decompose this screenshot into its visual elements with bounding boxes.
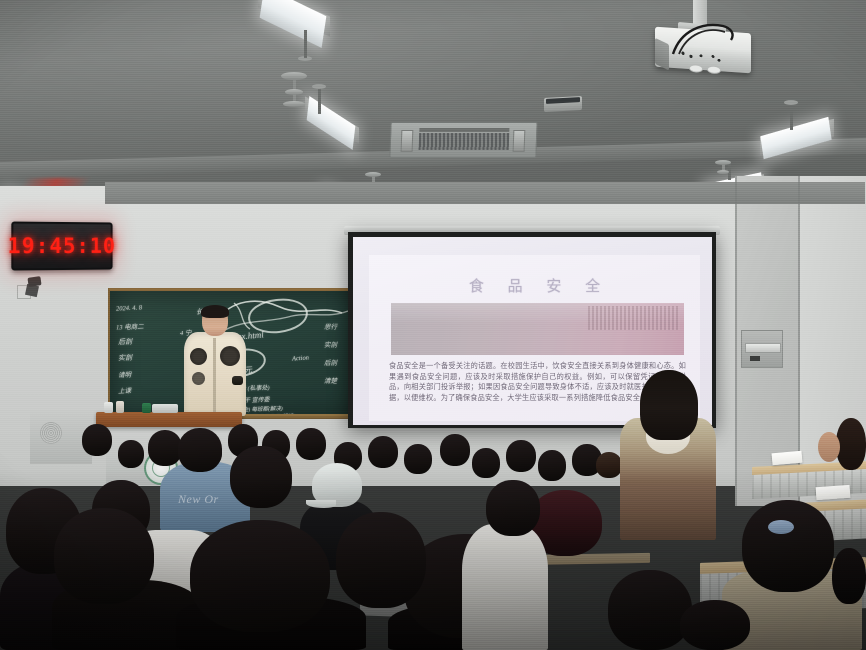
ceiling-ac-unit: [389, 122, 537, 158]
projector-lens: [655, 38, 669, 71]
chalk-line: 实剖: [118, 353, 132, 363]
jacket-patch-lower: [192, 372, 205, 385]
lectern-bottle-green: [142, 403, 151, 413]
standing-student: [620, 370, 716, 540]
chalk-line: 后剖: [324, 357, 337, 367]
standing-student-hair: [640, 370, 698, 440]
slide-title: 食 品 安 全: [369, 275, 700, 296]
jacket-patch-sleeve: [232, 376, 243, 385]
ceiling-projector: [649, 22, 759, 74]
chalk-line: 上课: [118, 385, 131, 395]
lecture-hall-photo: 19:45:10 2024. 4. 813 电商二后剖实剖请明上课长4 宁ind…: [0, 0, 866, 650]
chalk-line: 13 电商二: [116, 321, 144, 332]
lectern-paper-stack: [152, 404, 178, 413]
presenter-hair: [201, 305, 229, 318]
lectern-cup-2: [116, 401, 124, 413]
wall-soffit: [105, 182, 865, 204]
jacket-patch-left: [190, 348, 207, 365]
chalk-line: 清楚: [324, 375, 337, 385]
projector-cable: [669, 20, 739, 56]
chalk-line: 请明: [118, 369, 131, 379]
jacket-patch-right: [220, 346, 240, 366]
electrical-panel-box: [741, 330, 783, 368]
slide-banner-image: [391, 303, 684, 355]
hair-scrunchie: [768, 520, 794, 534]
wall-edge: [735, 176, 737, 506]
lectern-top: [96, 412, 242, 427]
shirt-text: New Or: [178, 492, 238, 506]
ceiling-speaker: [544, 96, 582, 112]
presenter-student: [184, 306, 246, 416]
desk-paper-2: [816, 485, 851, 500]
presenter-jacket: [184, 332, 246, 416]
chalk-line: 后剖: [118, 337, 132, 347]
clock-time-display: 19:45:10: [8, 234, 116, 259]
lectern-cup-1: [104, 402, 113, 413]
chalk-line: 2024. 4. 8: [116, 304, 142, 312]
classroom-camera: [17, 277, 43, 299]
chalk-line: Action: [292, 354, 309, 362]
led-wall-clock: 19:45:10: [11, 221, 112, 270]
